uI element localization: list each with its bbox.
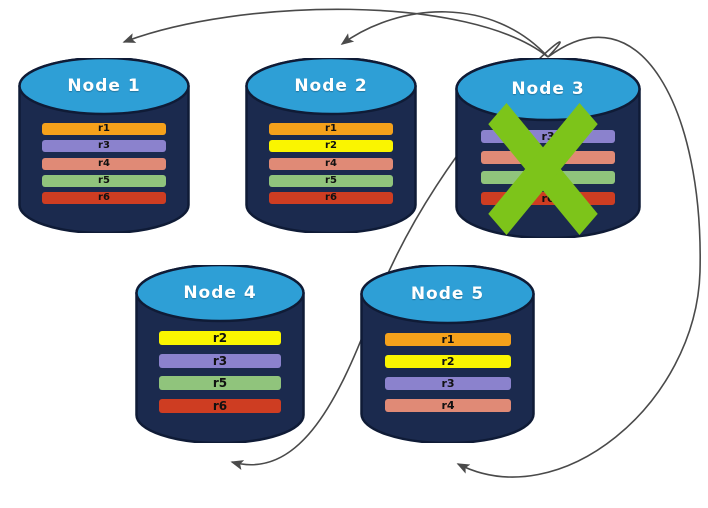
node-cylinder-5[interactable]: Node 5r1r2r3r4 (360, 265, 535, 443)
replica-bar[interactable]: r6 (42, 192, 166, 204)
diagram-canvas: Node 1r1r3r4r5r6Node 2r1r2r4r5r6Node 3r3… (0, 0, 708, 508)
node-cylinder-3[interactable]: Node 3r3r4r5r6 (455, 58, 641, 238)
replica-bar[interactable]: r6 (269, 192, 393, 204)
replica-bar[interactable]: r1 (269, 123, 393, 135)
cylinder-shape (360, 265, 535, 443)
cylinder-top-disc (457, 58, 640, 120)
replica-bar[interactable]: r2 (159, 331, 281, 345)
replica-bar[interactable]: r4 (269, 158, 393, 170)
replica-bar[interactable]: r2 (385, 355, 511, 368)
replica-bar[interactable]: r3 (42, 140, 166, 152)
replica-bar[interactable]: r3 (159, 354, 281, 368)
arrow-node3-to-node1 (124, 9, 548, 57)
replica-bar[interactable]: r5 (481, 171, 615, 184)
replica-bar[interactable]: r4 (42, 158, 166, 170)
replica-bar[interactable]: r2 (269, 140, 393, 152)
node-cylinder-4[interactable]: Node 4r2r3r5r6 (135, 265, 305, 443)
replica-bar[interactable]: r6 (481, 192, 615, 205)
replica-bar[interactable]: r3 (385, 377, 511, 390)
replica-bar[interactable]: r5 (42, 175, 166, 187)
replica-bar[interactable]: r1 (42, 123, 166, 135)
cylinder-top-disc (137, 265, 304, 321)
cylinder-top-disc (247, 58, 416, 114)
cylinder-top-disc (20, 58, 189, 114)
node-cylinder-1[interactable]: Node 1r1r3r4r5r6 (18, 58, 190, 233)
cylinder-top-disc (362, 265, 534, 323)
replica-bar[interactable]: r5 (159, 376, 281, 390)
cylinder-shape (455, 58, 641, 238)
replica-bar[interactable]: r4 (385, 399, 511, 412)
replica-bar[interactable]: r5 (269, 175, 393, 187)
node-cylinder-2[interactable]: Node 2r1r2r4r5r6 (245, 58, 417, 233)
replica-bar[interactable]: r3 (481, 130, 615, 143)
replica-bar[interactable]: r1 (385, 333, 511, 346)
replica-bar[interactable]: r4 (481, 151, 615, 164)
replica-bar[interactable]: r6 (159, 399, 281, 413)
